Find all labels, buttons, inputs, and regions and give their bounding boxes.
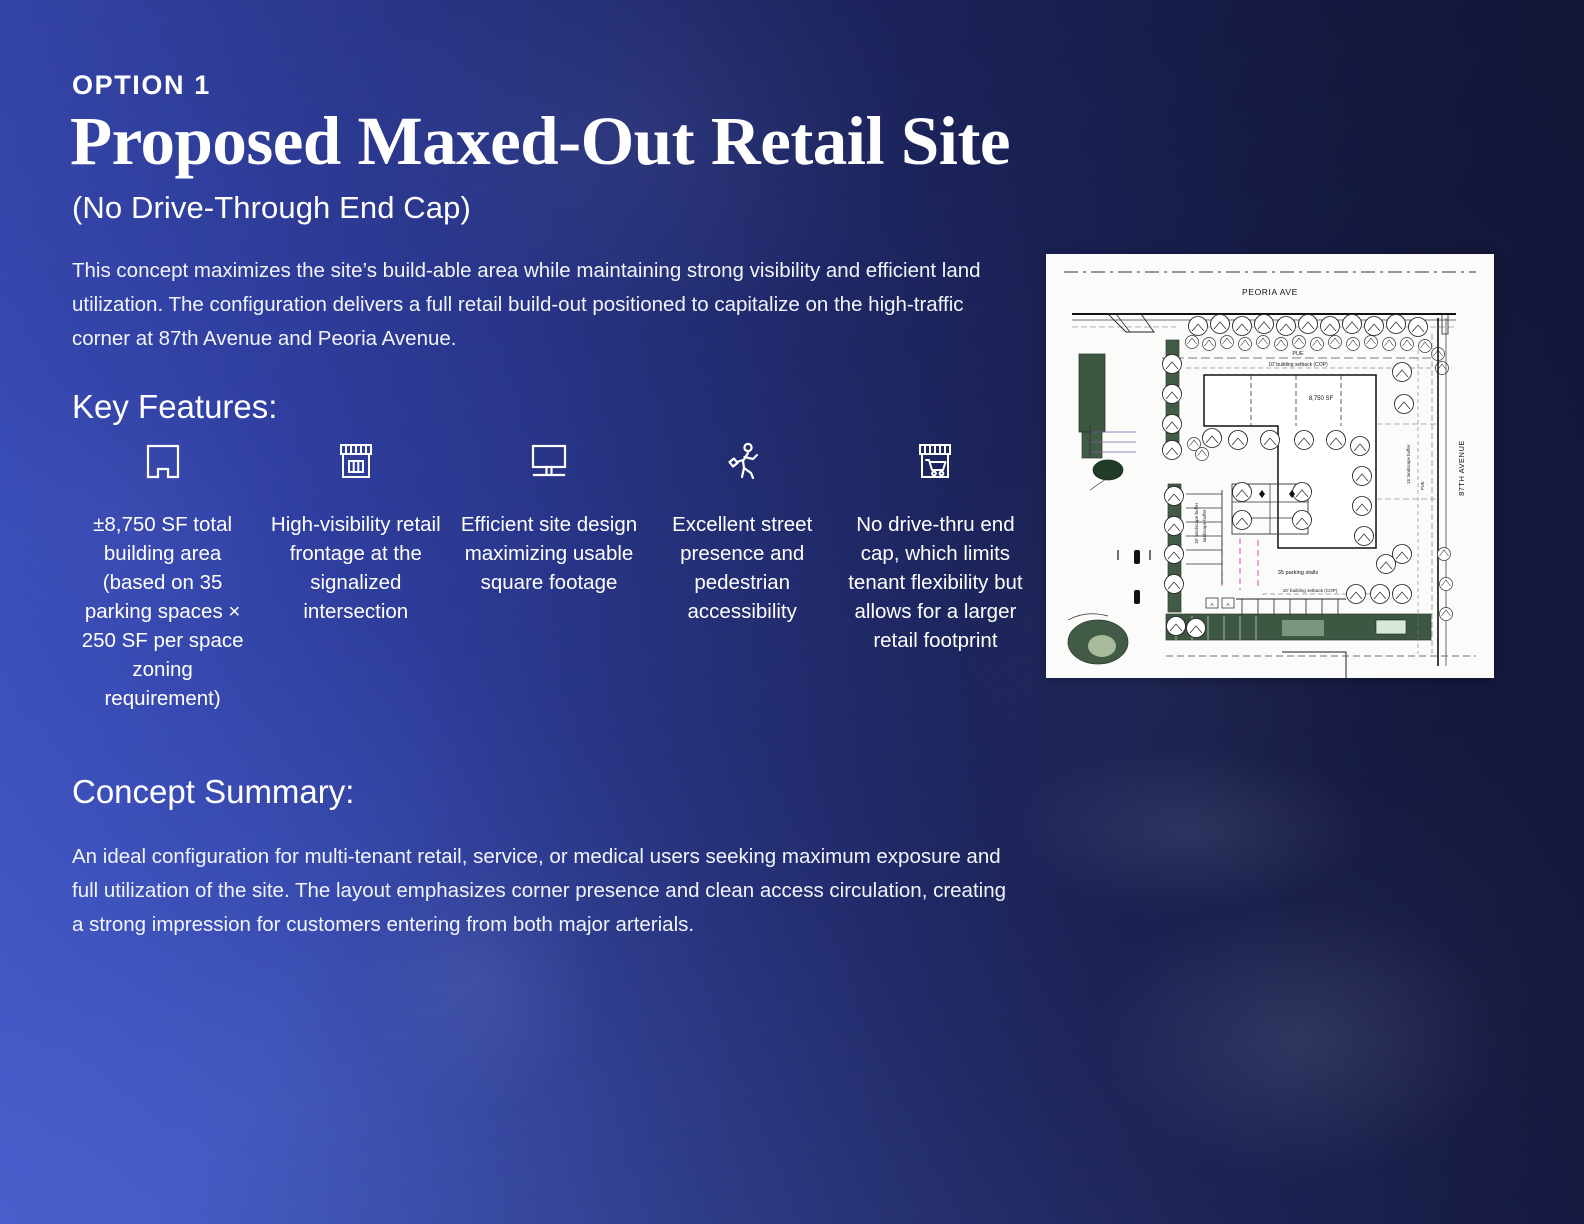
site-plan-label-parking: 35 parking stalls <box>1278 570 1319 576</box>
feature-item-building-area: ±8,750 SF total building area (based on … <box>66 438 259 713</box>
page-subtitle: (No Drive-Through End Cap) <box>72 190 471 226</box>
concept-summary-heading: Concept Summary: <box>72 773 354 811</box>
feature-text: ±8,750 SF total building area (based on … <box>72 510 253 713</box>
store-cart-icon <box>912 438 958 484</box>
site-plan-label-building-area: 8,750 SF <box>1309 396 1334 402</box>
feature-text: No drive-thru end cap, which limits tena… <box>845 510 1026 655</box>
feature-text: High-visibility retail frontage at the s… <box>265 510 446 626</box>
site-plan-image: PEORIA AVE PUE 10' building setback (COP… <box>1046 254 1494 678</box>
concept-summary-paragraph: An ideal configuration for multi-tenant … <box>72 840 1012 942</box>
svg-text:15' landscape buffer: 15' landscape buffer <box>1194 502 1199 544</box>
key-features-heading: Key Features: <box>72 388 277 426</box>
option-eyebrow: OPTION 1 <box>72 70 211 101</box>
monitor-icon <box>526 438 572 484</box>
feature-item-site-design: Efficient site design maximizing usable … <box>452 438 645 597</box>
feature-item-retail-frontage: High-visibility retail frontage at the s… <box>259 438 452 626</box>
intro-paragraph: This concept maximizes the site’s build-… <box>72 254 1002 356</box>
svg-text:A: A <box>1226 602 1229 607</box>
svg-text:10' building setback (COP): 10' building setback (COP) <box>1268 362 1328 368</box>
svg-text:PUE: PUE <box>1420 481 1425 490</box>
page-title: Proposed Maxed-Out Retail Site <box>70 107 1010 176</box>
svg-text:PUE: PUE <box>1292 351 1304 357</box>
svg-text:15' landscape buffer: 15' landscape buffer <box>1406 444 1411 484</box>
feature-item-pedestrian: Excellent street presence and pedestrian… <box>646 438 839 626</box>
storefront-icon <box>333 438 379 484</box>
key-features-list: ±8,750 SF total building area (based on … <box>66 438 1032 713</box>
feature-text: Efficient site design maximizing usable … <box>458 510 639 597</box>
site-plan-label-87th: 87TH AVENUE <box>1457 440 1466 496</box>
site-plan-label-peoria: PEORIA AVE <box>1242 287 1298 297</box>
feature-item-no-drive-thru: No drive-thru end cap, which limits tena… <box>839 438 1032 655</box>
svg-text:10' building setback (COP): 10' building setback (COP) <box>1283 588 1338 593</box>
building-footprint-icon <box>140 438 186 484</box>
pedestrian-icon <box>719 438 765 484</box>
svg-text:landscape buffer: landscape buffer <box>1202 509 1207 542</box>
svg-text:A: A <box>1210 602 1213 607</box>
feature-text: Excellent street presence and pedestrian… <box>652 510 833 626</box>
